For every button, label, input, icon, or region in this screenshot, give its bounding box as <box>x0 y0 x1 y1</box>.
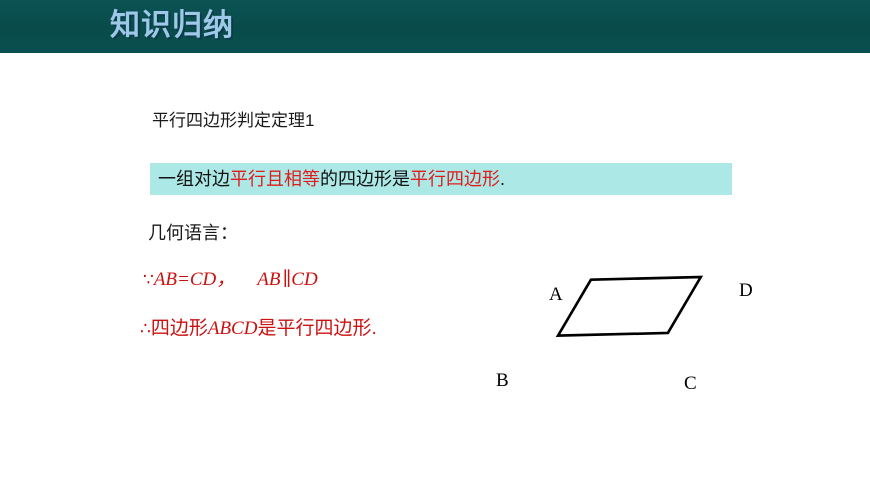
premise-segment-3: CD <box>291 269 317 290</box>
statement-part-3: 的四边形是 <box>320 169 410 189</box>
vertex-label-c: C <box>684 374 697 394</box>
statement-part-1: 一组对边 <box>158 169 230 189</box>
vertex-label-d: D <box>739 281 753 301</box>
header-bar: 知识归纳 <box>0 0 870 53</box>
premise-segment-2: AB <box>257 269 280 290</box>
conclusion-segment-1: 四边形 <box>151 318 208 339</box>
statement-period: . <box>500 169 505 189</box>
vertex-label-a: A <box>549 285 563 305</box>
page-title: 知识归纳 <box>110 7 234 45</box>
theorem-title: 平行四边形判定定理1 <box>152 109 314 133</box>
therefore-symbol-icon: ∴ <box>140 319 151 339</box>
because-symbol-icon: ∵ <box>143 270 154 290</box>
parallelogram-figure: A D C B <box>490 231 780 356</box>
slide-content: 平行四边形判定定理1 一组对边平行且相等的四边形是平行四边形. 几何语言： ∵A… <box>0 53 870 489</box>
vertex-label-b: B <box>496 371 509 391</box>
theorem-statement-box: 一组对边平行且相等的四边形是平行四边形. <box>150 163 732 195</box>
statement-emphasis-1: 平行且相等 <box>230 169 320 189</box>
parallelogram-svg <box>490 231 780 356</box>
parallelogram-shape <box>558 277 701 336</box>
conclusion-segment-2: 是平行四边形. <box>257 318 376 339</box>
premise-segment-1: AB=CD， <box>154 269 235 290</box>
proof-conclusion-line: ∴四边形ABCD是平行四边形. <box>140 315 377 343</box>
conclusion-quad-name: ABCD <box>208 318 258 339</box>
theorem-statement-text: 一组对边平行且相等的四边形是平行四边形. <box>158 166 505 192</box>
geometry-language-label: 几何语言： <box>148 220 238 246</box>
parallel-symbol-icon: ∥ <box>280 269 291 290</box>
proof-premise-line: ∵AB=CD，AB∥CD <box>143 267 318 293</box>
statement-emphasis-2: 平行四边形 <box>410 169 500 189</box>
